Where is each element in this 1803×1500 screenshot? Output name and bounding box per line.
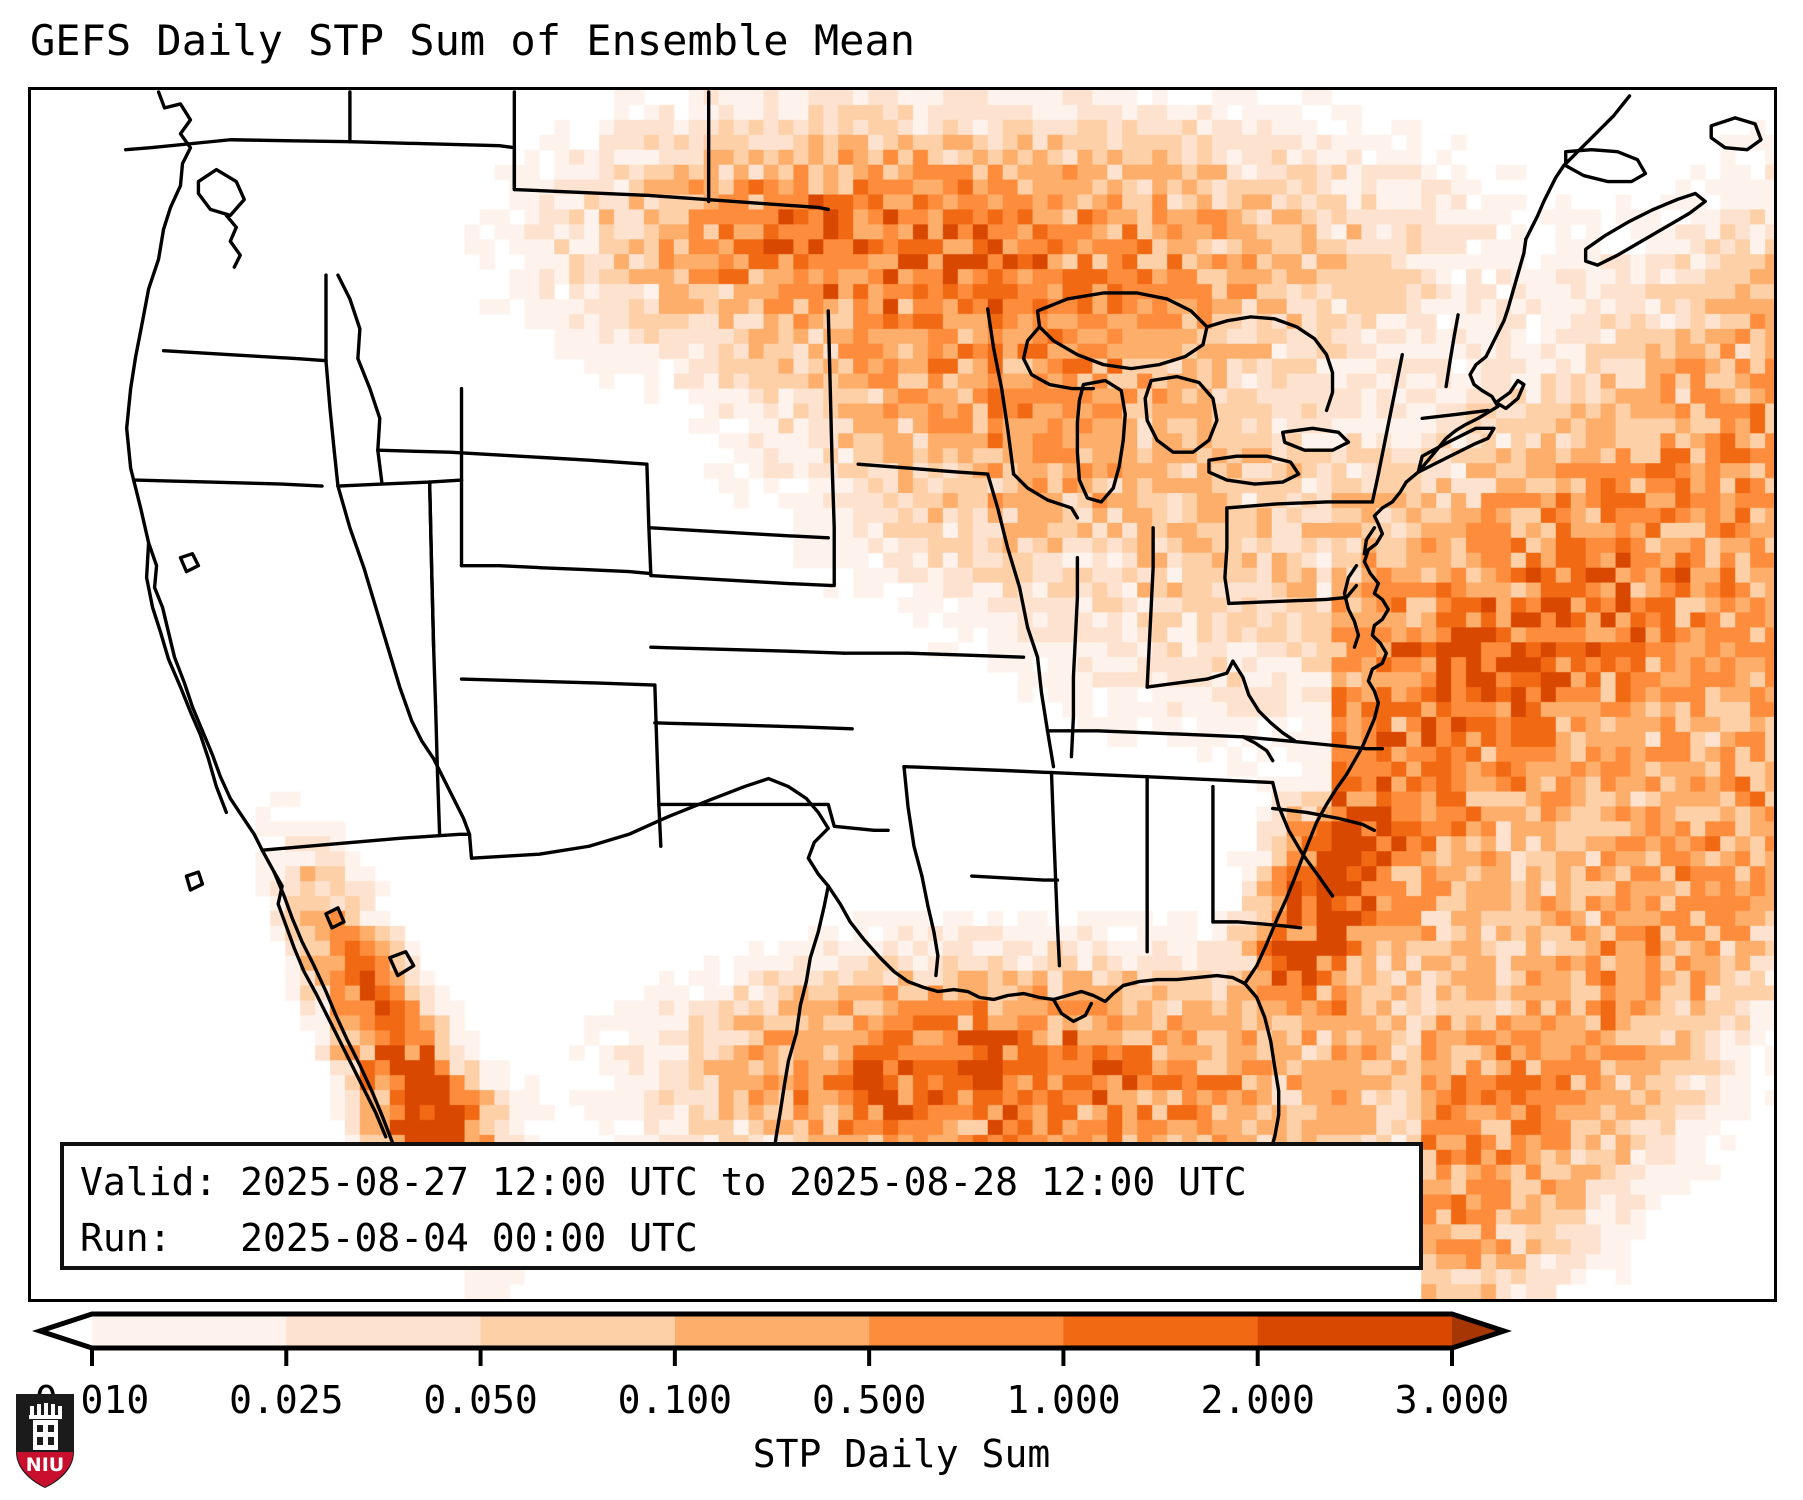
colorbar-segment-group	[40, 1314, 1504, 1348]
colorbar-tick-label: 0.100	[618, 1378, 732, 1422]
stp-heatmap-layer	[31, 90, 1774, 1299]
colorbar-axis-label: STP Daily Sum	[0, 1432, 1803, 1476]
colorbar-tick-group	[92, 1348, 1452, 1366]
logo-banner-text: NIU	[26, 1454, 64, 1476]
forecast-info-box: Valid: 2025-08-27 12:00 UTC to 2025-08-2…	[60, 1142, 1423, 1270]
colorbar-segment	[1063, 1314, 1258, 1348]
valid-time-line: Valid: 2025-08-27 12:00 UTC to 2025-08-2…	[80, 1154, 1403, 1210]
colorbar-tick-labels: 0.0100.0250.0500.1000.5001.0002.0003.000	[0, 1378, 1803, 1428]
run-time-line: Run: 2025-08-04 00:00 UTC	[80, 1210, 1403, 1266]
colorbar-tick-label: 1.000	[1006, 1378, 1120, 1422]
colorbar	[0, 1306, 1803, 1366]
colorbar-segment	[1258, 1314, 1453, 1348]
colorbar-segment	[869, 1314, 1064, 1348]
colorbar-segment	[481, 1314, 676, 1348]
colorbar-tick-label: 0.025	[229, 1378, 343, 1422]
colorbar-segment	[675, 1314, 870, 1348]
page-title: GEFS Daily STP Sum of Ensemble Mean	[30, 16, 915, 65]
colorbar-tick-label: 0.050	[423, 1378, 537, 1422]
colorbar-segment	[286, 1314, 481, 1348]
map-plot-area	[28, 87, 1777, 1302]
niu-logo: NIU	[14, 1392, 76, 1490]
colorbar-tick-label: 0.500	[812, 1378, 926, 1422]
colorbar-tick-label: 2.000	[1201, 1378, 1315, 1422]
colorbar-tick-label: 3.000	[1395, 1378, 1509, 1422]
colorbar-segment	[92, 1314, 287, 1348]
colorbar-swatches	[0, 1306, 1803, 1366]
